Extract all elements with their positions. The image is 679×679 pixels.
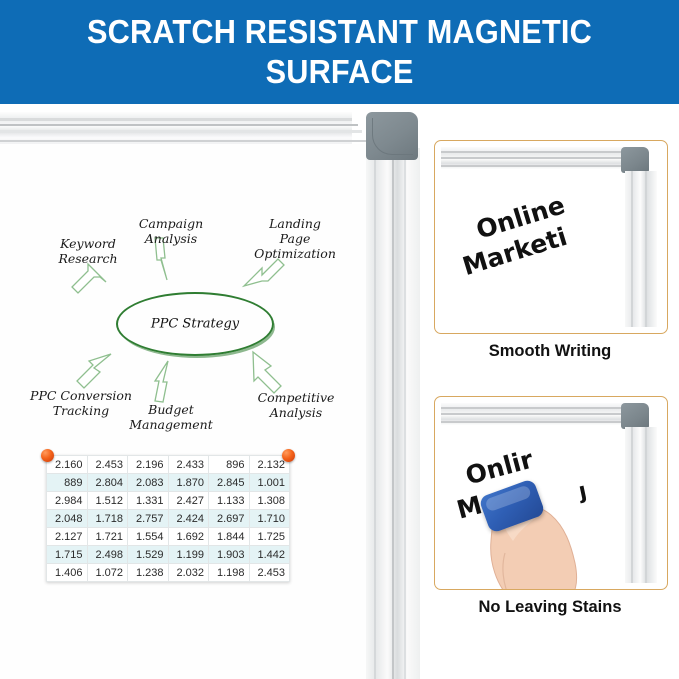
diagram-label-campaign-analysis: Campaign Analysis [122,216,220,246]
table-cell: 2.984 [47,492,88,510]
table-row: 2.160 2.453 2.196 2.433 896 2.132 [47,456,290,474]
data-grid-body: 2.160 2.453 2.196 2.433 896 2.132 889 2.… [47,456,290,582]
table-cell: 1.406 [47,564,88,582]
mini-whiteboard-surface: Online Marketi [439,145,663,329]
diagram-label-competitive-analysis: Competitive Analysis [242,390,350,420]
table-cell: 1.710 [249,510,290,528]
table-cell: 2.498 [87,546,128,564]
table-cell: 2.453 [249,564,290,582]
mini-frame-rail-1 [441,407,623,409]
table-cell: 2.196 [128,456,169,474]
diagram-center-label: PPC Strategy [118,317,272,332]
table-cell: 2.845 [209,474,250,492]
table-cell: 1.725 [249,528,290,546]
table-cell: 2.032 [168,564,209,582]
table-cell: 2.127 [47,528,88,546]
mini-frame-right-band [625,171,657,327]
table-row: 2.048 1.718 2.757 2.424 2.697 1.710 [47,510,290,528]
table-cell: 1.512 [87,492,128,510]
mini-frame-rail-3 [441,421,631,423]
table-cell: 1.133 [209,492,250,510]
table-cell: 2.083 [128,474,169,492]
table-row: 2.984 1.512 1.331 2.427 1.133 1.308 [47,492,290,510]
table-cell: 1.199 [168,546,209,564]
table-cell: 1.001 [249,474,290,492]
table-cell: 1.870 [168,474,209,492]
table-cell: 2.804 [87,474,128,492]
frame-rail-top-2 [0,124,358,126]
table-cell: 2.048 [47,510,88,528]
table-row: 1.715 2.498 1.529 1.199 1.903 1.442 [47,546,290,564]
table-row: 889 2.804 2.083 1.870 2.845 1.001 [47,474,290,492]
table-cell: 1.442 [249,546,290,564]
product-feature-image: SCRATCH RESISTANT MAGNETIC SURFACE [0,0,679,679]
table-cell: 1.238 [128,564,169,582]
table-cell: 1.072 [87,564,128,582]
mini-frame-rail-3 [441,165,631,167]
mini-frame-right-band [625,427,657,583]
mini-frame-rail-2 [441,413,627,415]
magnet-dot-right-icon[interactable] [282,449,295,462]
table-cell: 2.433 [168,456,209,474]
table-cell: 889 [47,474,88,492]
ppc-strategy-diagram: PPC Strategy Keyword Research Campaign A… [16,204,360,454]
table-cell: 2.453 [87,456,128,474]
table-cell: 1.844 [209,528,250,546]
magnet-dot-left-icon[interactable] [41,449,54,462]
frame-rail-top-1 [0,118,352,121]
table-cell: 2.427 [168,492,209,510]
mini-frame-corner-cap-icon [621,403,649,429]
main-whiteboard: PPC Strategy Keyword Research Campaign A… [0,104,420,679]
table-cell: 1.903 [209,546,250,564]
table-cell: 1.554 [128,528,169,546]
table-row: 1.406 1.072 1.238 2.032 1.198 2.453 [47,564,290,582]
frame-rail-right-3 [404,148,406,679]
table-cell: 1.198 [209,564,250,582]
banner-title-line-1: SCRATCH RESISTANT MAGNETIC [87,12,592,52]
mini-frame-rail-v1 [631,427,633,583]
mini-frame-corner-cap-icon [621,147,649,173]
panel-smooth-writing-frame: Online Marketi [434,140,668,334]
diagram-label-ppc-conversion-tracking: PPC Conversion Tracking [16,388,146,418]
table-cell: 1.715 [47,546,88,564]
frame-rail-top-3 [0,130,362,133]
magnetic-data-table: 2.160 2.453 2.196 2.433 896 2.132 889 2.… [46,455,290,582]
mini-frame-rail-v2 [645,171,647,327]
panel-smooth-writing: Online Marketi Smooth Writing [434,140,666,361]
mini-frame-rail-2 [441,157,627,159]
mini-frame-rail-v2 [645,427,647,583]
panel-caption-smooth-writing: Smooth Writing [434,342,666,361]
frame-rail-right-1 [374,148,376,679]
frame-rail-right-2 [392,148,394,679]
frame-corner-cap-icon [366,112,418,160]
table-cell: 1.721 [87,528,128,546]
table-cell: 896 [209,456,250,474]
table-cell: 1.529 [128,546,169,564]
panel-no-leaving-stains: Onlir M ȷ No Leaving Stains [434,396,666,617]
frame-rail-top-4 [0,140,368,142]
diagram-label-landing-page-optimization: Landing Page Optimization [240,216,350,261]
mini-frame-rail-v1 [631,171,633,327]
diagram-center-ellipse: PPC Strategy [116,292,274,356]
table-cell: 2.757 [128,510,169,528]
table-cell: 2.697 [209,510,250,528]
table-cell: 2.424 [168,510,209,528]
mini-frame-rail-1 [441,151,623,153]
banner-title-line-2: SURFACE [266,52,414,92]
panel-no-leaving-stains-frame: Onlir M ȷ [434,396,668,590]
table-cell: 1.308 [249,492,290,510]
mini-whiteboard-surface: Onlir M ȷ [439,401,663,585]
table-cell: 1.718 [87,510,128,528]
data-grid: 2.160 2.453 2.196 2.433 896 2.132 889 2.… [46,455,290,582]
panel-caption-no-leaving-stains: No Leaving Stains [434,598,666,617]
header-banner: SCRATCH RESISTANT MAGNETIC SURFACE [0,0,679,104]
table-cell: 1.692 [168,528,209,546]
table-row: 2.127 1.721 1.554 1.692 1.844 1.725 [47,528,290,546]
table-cell: 1.331 [128,492,169,510]
